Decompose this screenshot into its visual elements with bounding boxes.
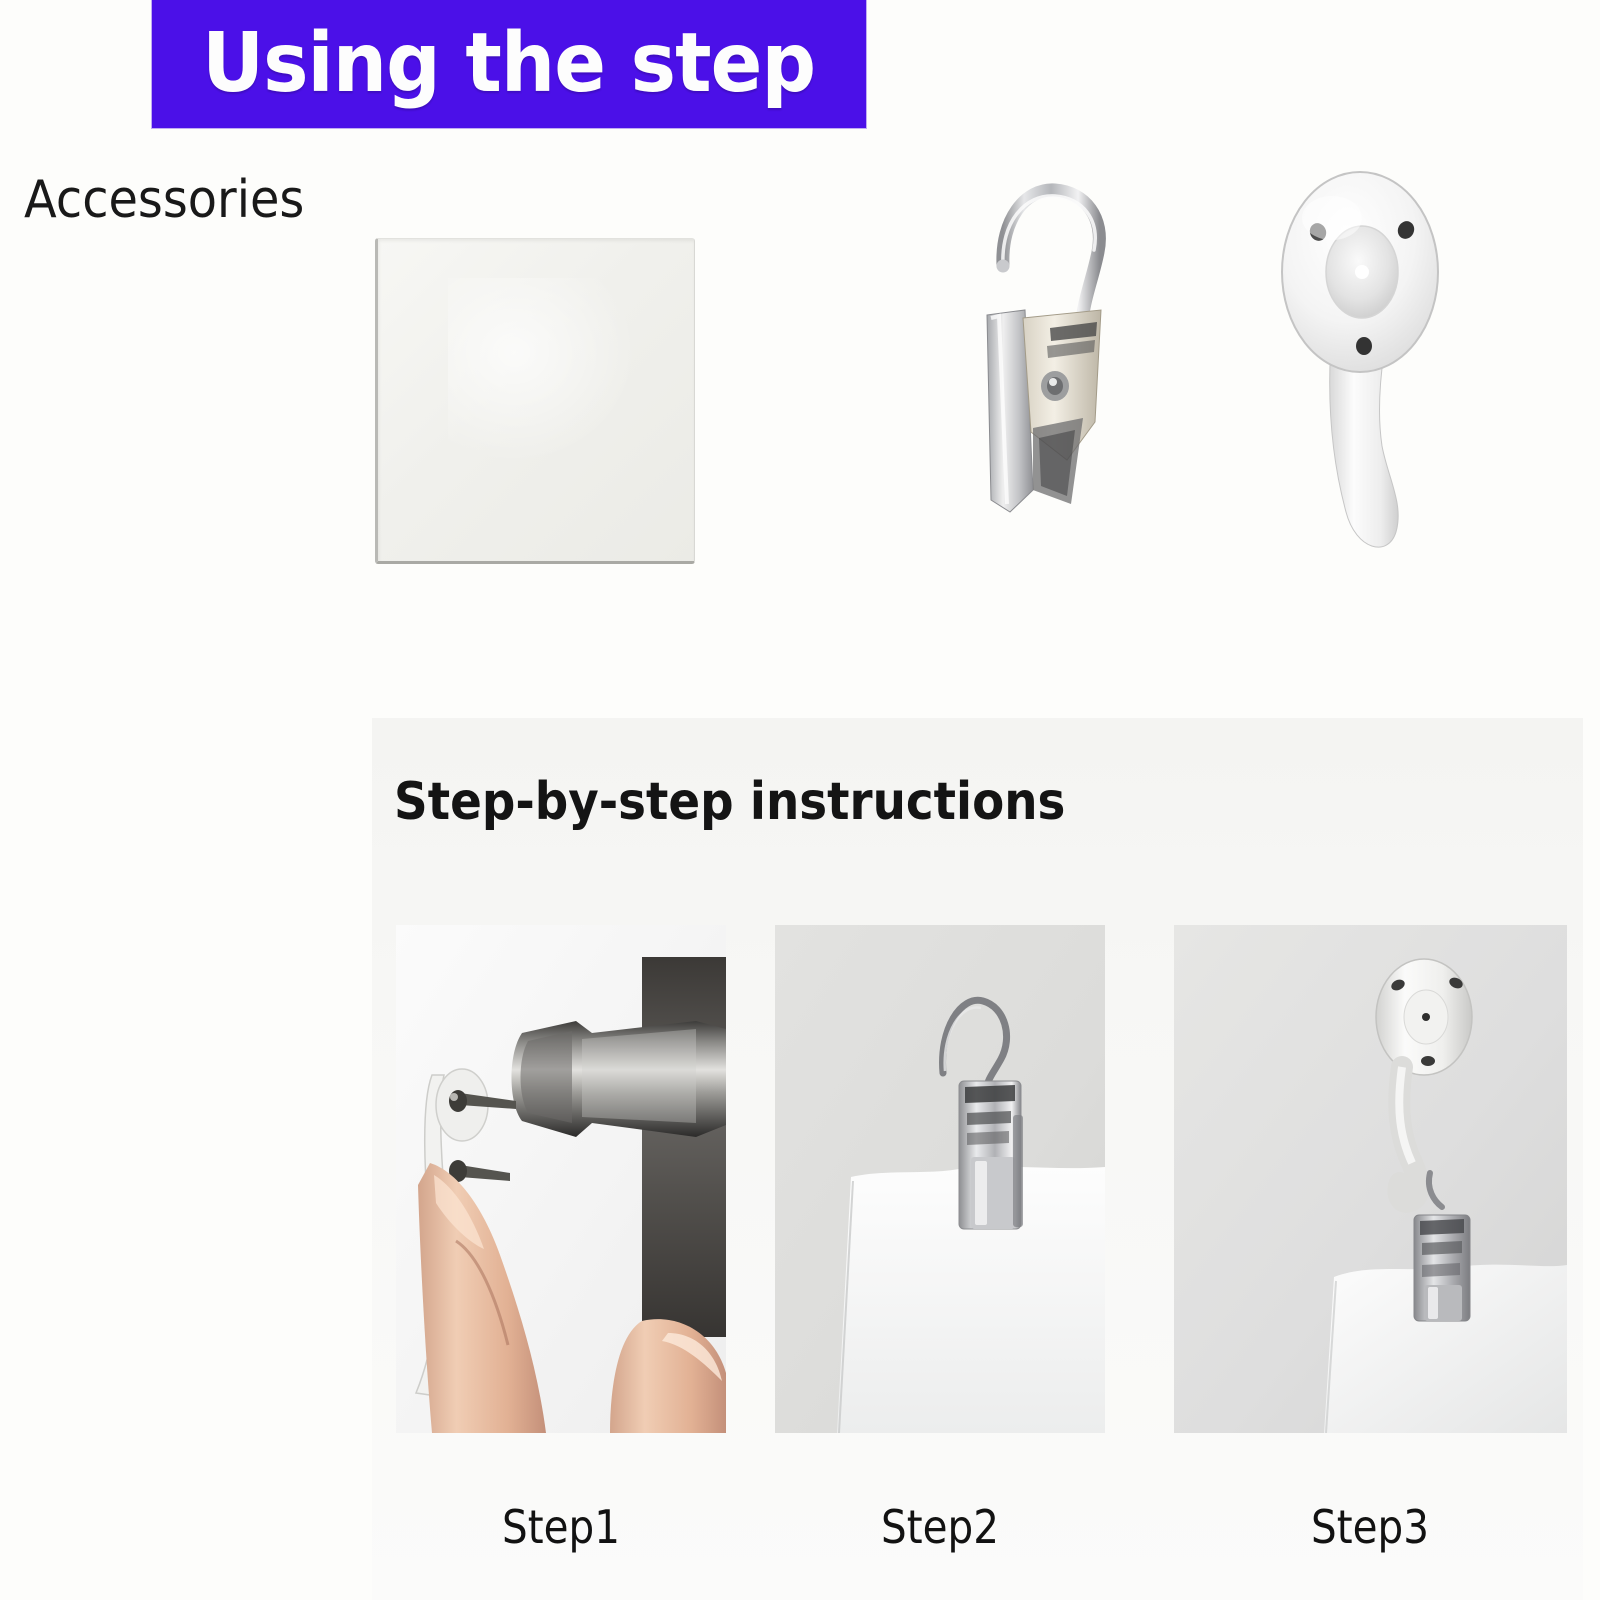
- plastic-hook-icon: [1270, 160, 1450, 560]
- accessories-row: sticky 2 hangers 2 nails: [0, 150, 1600, 670]
- adhesive-pad-icon: [375, 238, 695, 564]
- title-banner: Using the step: [152, 0, 866, 128]
- infographic-page: Using the step Accessories: [0, 0, 1600, 1600]
- page-title: Using the step: [202, 23, 815, 105]
- steps-heading: Step-by-step instructions: [394, 772, 1065, 832]
- clip-holding-sheet-photo: [775, 925, 1105, 1433]
- hanger-clip-icon: [955, 160, 1145, 560]
- step-caption-1: Step1: [438, 1500, 684, 1554]
- hook-with-clip-on-wall-photo: [1174, 925, 1567, 1433]
- hammering-nail-into-hook-photo: [396, 925, 726, 1433]
- step-caption-2: Step2: [817, 1500, 1063, 1554]
- step-caption-3: Step3: [1247, 1500, 1493, 1554]
